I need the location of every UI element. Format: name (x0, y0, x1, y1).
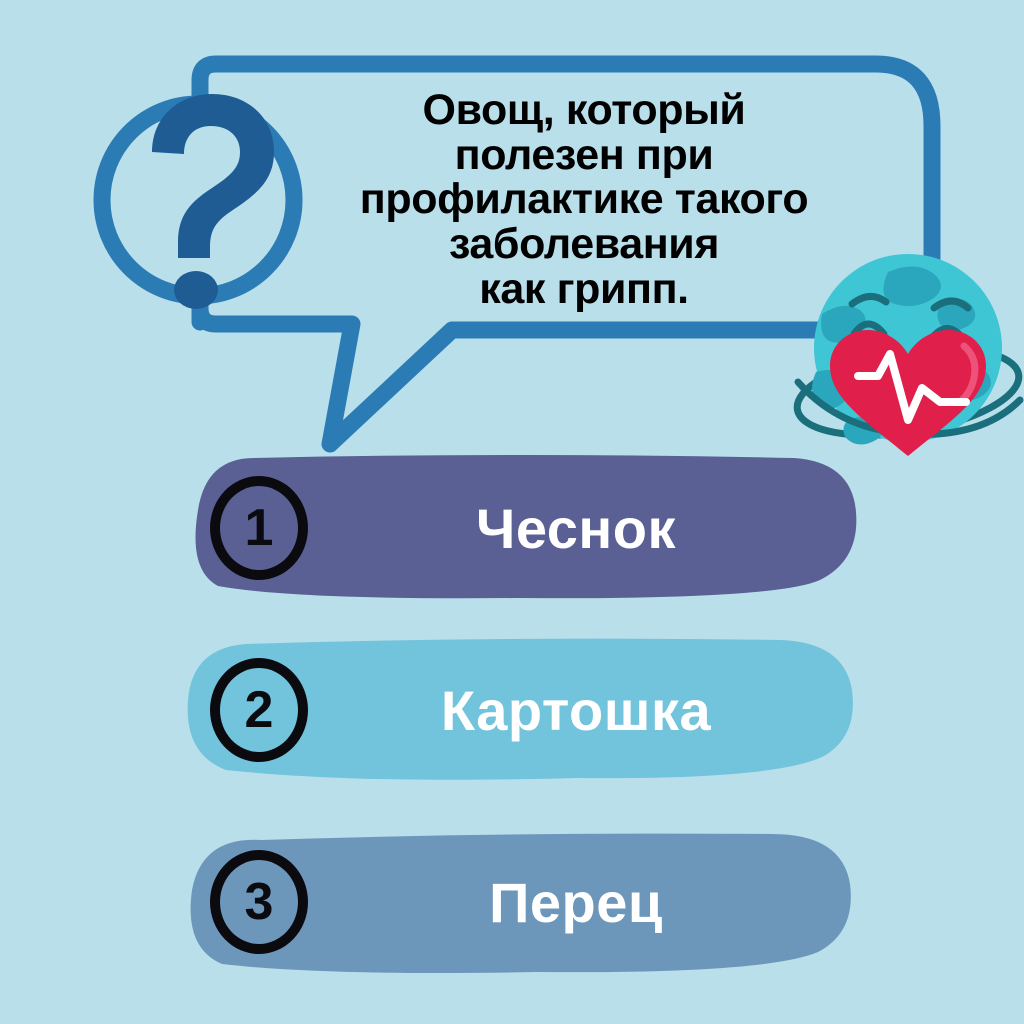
option-2-number: 2 (245, 684, 274, 736)
option-1-label: Чеснок (326, 452, 846, 604)
answer-option-1[interactable]: 1 Чеснок (176, 452, 866, 604)
option-3-label: Перец (326, 826, 846, 978)
option-2-label: Картошка (326, 634, 846, 786)
option-3-number: 3 (245, 876, 274, 928)
earth-heart-mascot-icon (792, 242, 1024, 474)
question-mark-icon (152, 94, 274, 309)
answer-option-3[interactable]: 3 Перец (176, 826, 866, 978)
option-1-number: 1 (245, 502, 274, 554)
option-3-number-badge: 3 (210, 850, 308, 954)
question-mark-circle (102, 104, 294, 296)
option-2-number-badge: 2 (210, 658, 308, 762)
answer-option-2[interactable]: 2 Картошка (176, 634, 866, 786)
quiz-card: Овощ, который полезен при профилактике т… (0, 0, 1024, 1024)
option-1-number-badge: 1 (210, 476, 308, 580)
